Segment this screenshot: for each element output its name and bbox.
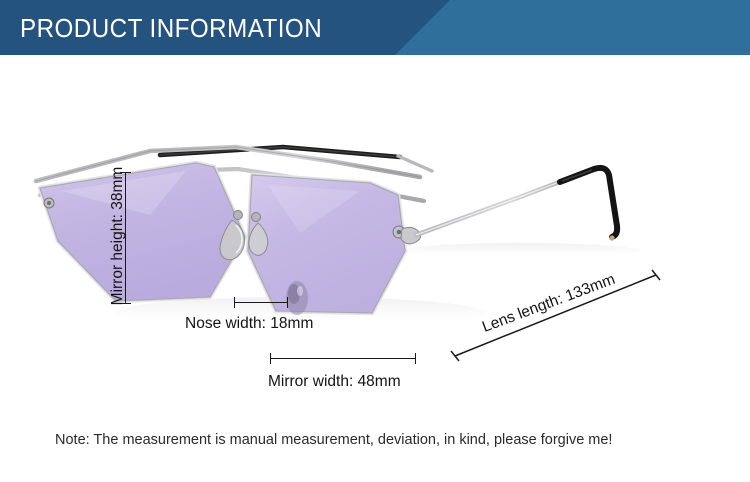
nose-width-cap-right	[287, 297, 288, 308]
nose-width-cap-left	[234, 297, 235, 308]
page-title: PRODUCT INFORMATION	[20, 13, 322, 44]
nose-width-label: Nose width: 18mm	[185, 315, 313, 333]
mirror-height-label: Mirror height: 38mm	[109, 166, 127, 306]
dimension-mirror-height: Mirror height: 38mm	[90, 165, 140, 315]
mirror-width-label: Mirror width: 48mm	[268, 373, 401, 391]
header-banner: PRODUCT INFORMATION	[0, 0, 750, 55]
nose-width-line	[234, 302, 288, 303]
mirror-width-cap-right	[415, 353, 416, 364]
mirror-width-cap-left	[270, 353, 271, 364]
lens-length-line	[448, 262, 663, 367]
dimension-lens-length: Lens length: 133mm	[448, 262, 663, 367]
product-information-page: PRODUCT INFORMATION	[0, 0, 750, 482]
mirror-width-line	[270, 358, 416, 359]
measurement-note: Note: The measurement is manual measurem…	[55, 432, 612, 448]
